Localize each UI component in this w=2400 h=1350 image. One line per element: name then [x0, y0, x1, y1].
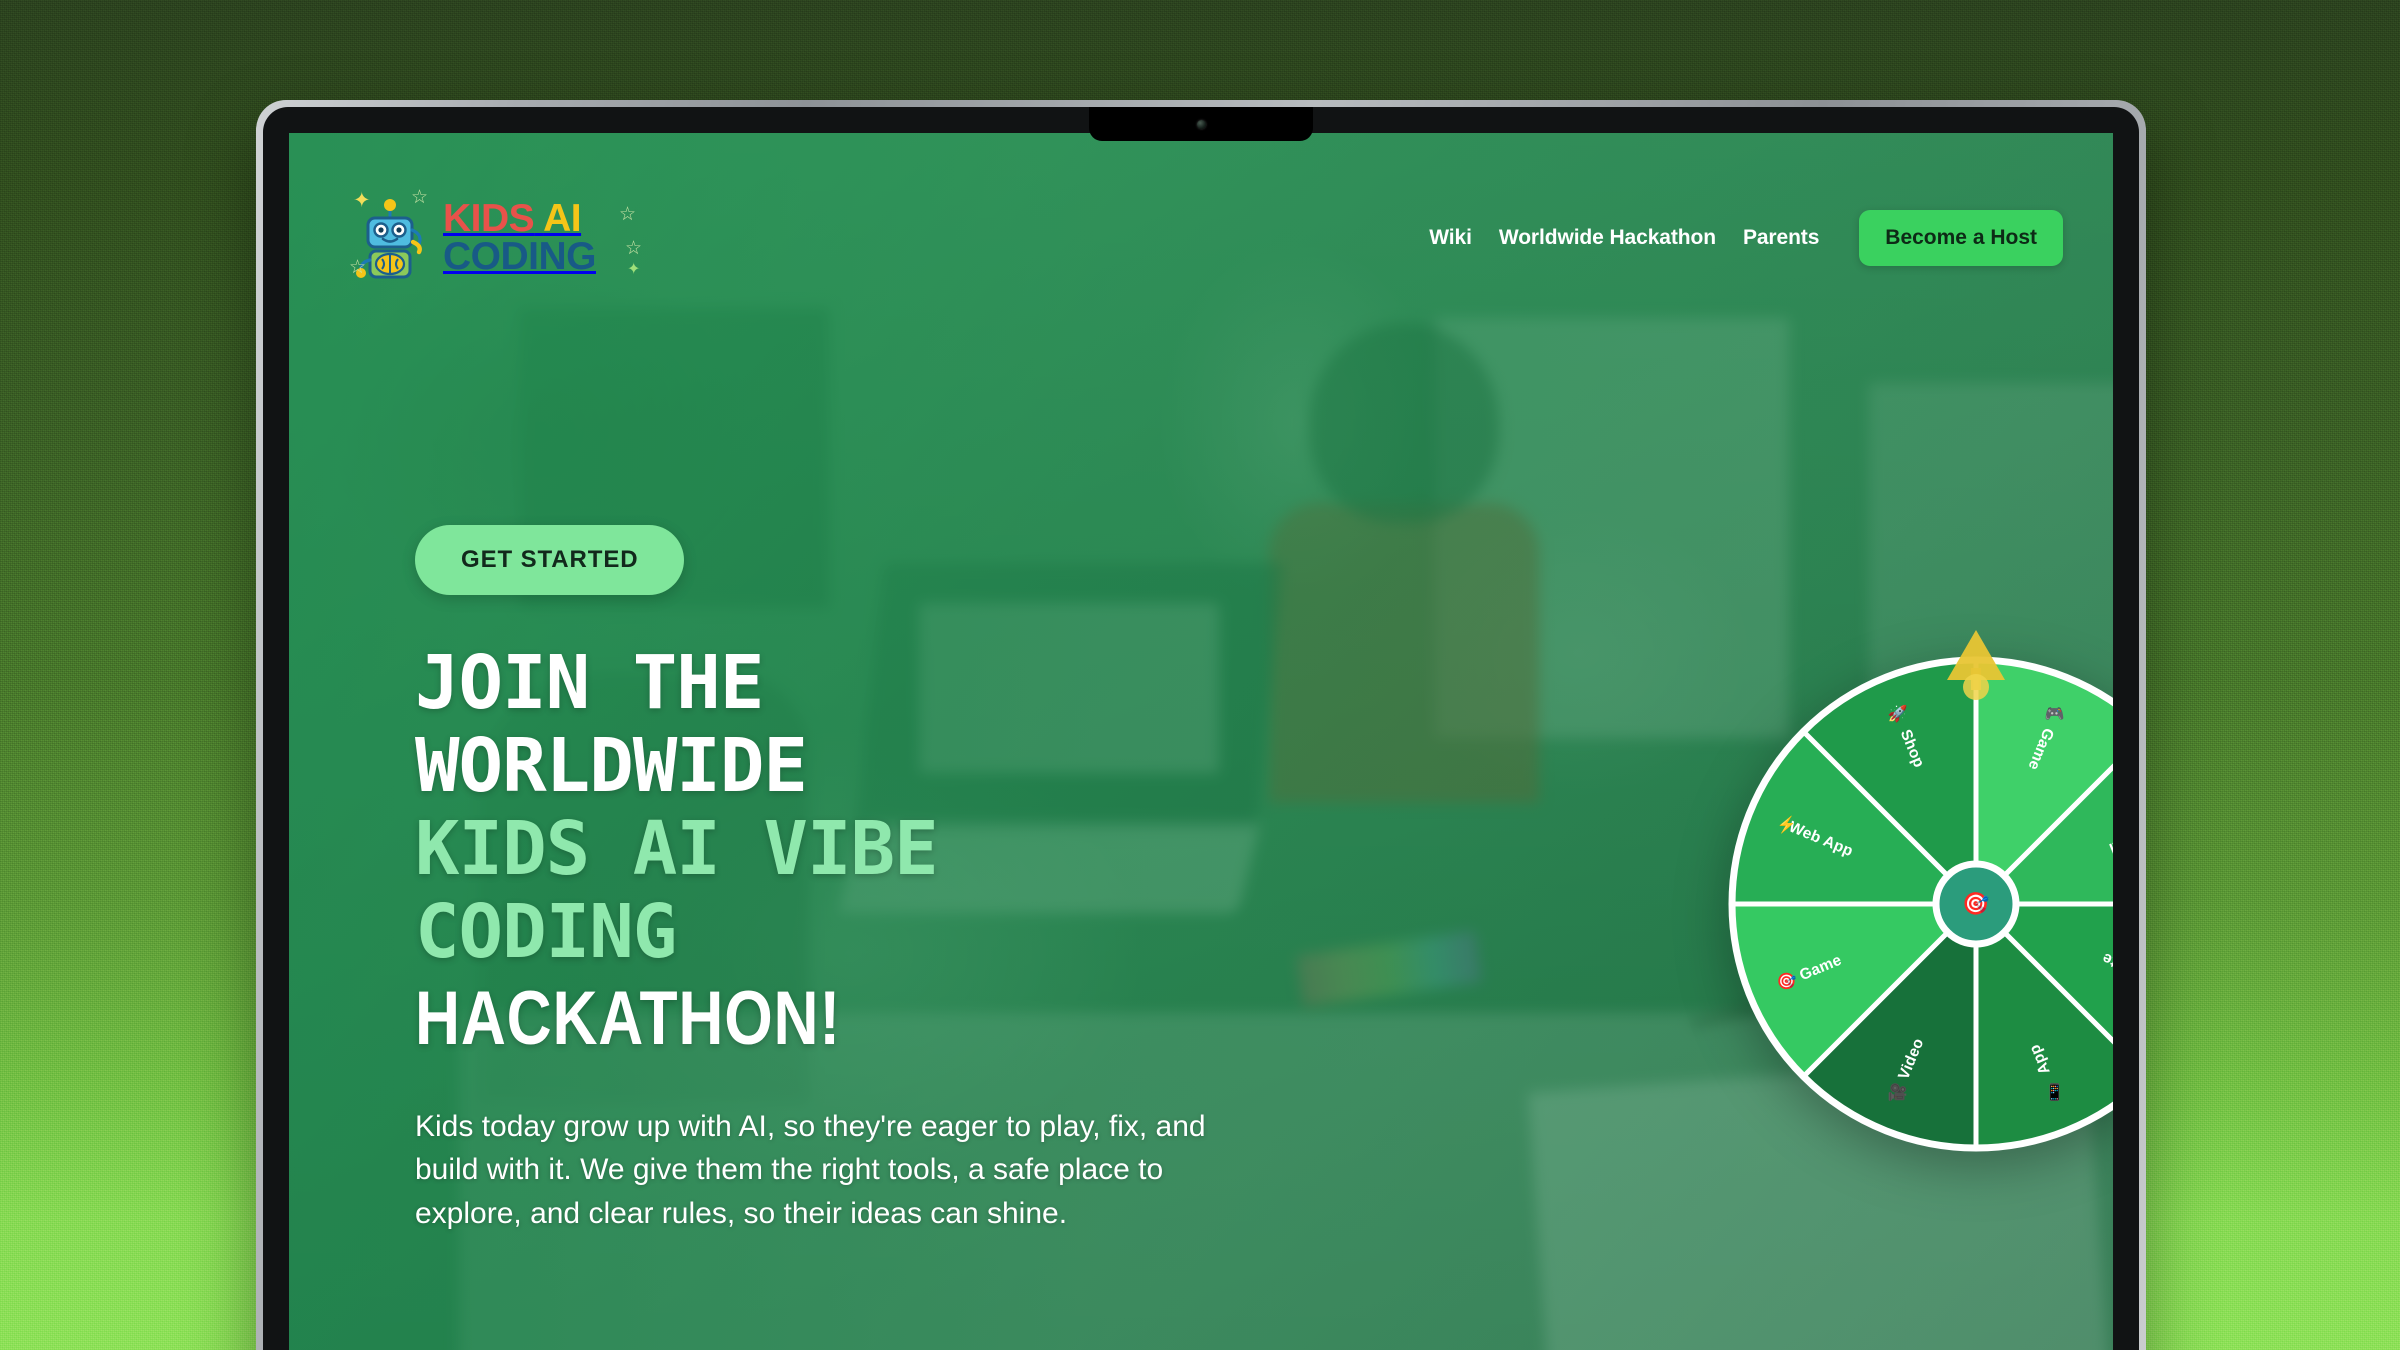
star-icon-1: ☆ [411, 186, 428, 209]
laptop-bezel: ✦ ☆ ☆ KIDS AI CODING ☆ ☆ ✦ [263, 107, 2139, 1350]
nav-link-worldwide-hackathon[interactable]: Worldwide Hackathon [1499, 226, 1716, 250]
brand-word-kids: KIDS [443, 197, 534, 240]
wheel-svg[interactable]: Game🎮Social📓Website🌐App📱Video🎥Game🎯Web A… [1728, 656, 2113, 1152]
nav-link-parents[interactable]: Parents [1743, 226, 1819, 250]
brand-word-coding: CODING [443, 238, 596, 276]
star-icon-3: ☆ [619, 206, 636, 224]
browser-viewport: ✦ ☆ ☆ KIDS AI CODING ☆ ☆ ✦ [289, 133, 2113, 1350]
site-header: ✦ ☆ ☆ KIDS AI CODING ☆ ☆ ✦ [289, 133, 2113, 343]
hero-description: Kids today grow up with AI, so they're e… [415, 1105, 1215, 1236]
wheel-segment-icon: ⚡ [1777, 815, 1797, 834]
nav-link-wiki[interactable]: Wiki [1429, 226, 1472, 250]
wheel-segments[interactable]: Game🎮Social📓Website🌐App📱Video🎥Game🎯Web A… [1732, 660, 2113, 1148]
wheel-segment-icon: 🎮 [2044, 706, 2064, 723]
brand-logo[interactable]: ✦ ☆ ☆ KIDS AI CODING ☆ ☆ ✦ [345, 186, 614, 290]
headline-line-2: WORLDWIDE [415, 725, 1275, 808]
wheel-segment-icon: 🎥 [1888, 1083, 1908, 1102]
headline-line-1: JOIN THE [415, 642, 1275, 725]
wheel-pointer-icon [1943, 628, 2009, 702]
brand-wordmark: KIDS AI CODING ☆ ☆ ✦ [443, 200, 596, 276]
wheel-segment-icon: 🎯 [1777, 973, 1797, 991]
camera-notch [1089, 107, 1313, 141]
star-icon-2: ☆ [349, 256, 366, 279]
sparkle-icon-2: ✦ [627, 262, 640, 278]
hero-section: GET STARTED JOIN THE WORLDWIDE KIDS AI V… [415, 525, 1275, 1236]
primary-navigation: Wiki Worldwide Hackathon Parents Become … [1429, 210, 2063, 266]
star-icon-4: ☆ [625, 240, 642, 258]
headline-line-5: HACKATHON! [415, 976, 1120, 1061]
webcam-dot [1197, 120, 1206, 129]
wheel-segment-icon: 🚀 [1888, 704, 1908, 723]
page-backdrop: ✦ ☆ ☆ KIDS AI CODING ☆ ☆ ✦ [0, 0, 2400, 1350]
sparkle-icon-1: ✦ [353, 188, 371, 213]
wheel-hub[interactable] [1936, 864, 2016, 944]
page-title: JOIN THE WORLDWIDE KIDS AI VIBE CODING H… [415, 642, 1275, 1061]
get-started-button[interactable]: GET STARTED [415, 525, 684, 595]
headline-line-4: CODING [415, 891, 1275, 974]
become-a-host-button[interactable]: Become a Host [1859, 210, 2063, 266]
brand-word-ai: AI [543, 197, 581, 240]
spin-wheel[interactable]: Game🎮Social📓Website🌐App📱Video🎥Game🎯Web A… [1694, 588, 2113, 1148]
laptop-device-frame: ✦ ☆ ☆ KIDS AI CODING ☆ ☆ ✦ [256, 100, 2146, 1350]
headline-line-3: KIDS AI VIBE [415, 808, 1275, 891]
wheel-segment-icon: 📱 [2044, 1083, 2064, 1102]
